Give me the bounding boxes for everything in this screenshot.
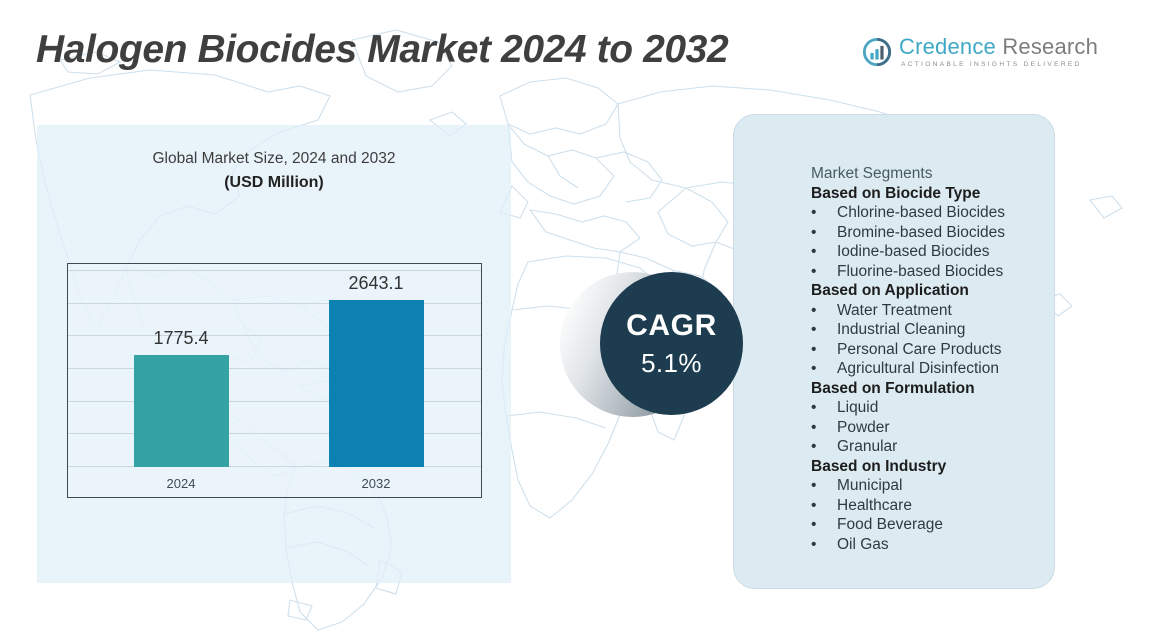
cagr-label: CAGR xyxy=(626,311,717,341)
segment-list-item: •Municipal xyxy=(811,476,1061,496)
bullet-icon: • xyxy=(811,223,837,243)
segment-list-item: •Water Treatment xyxy=(811,301,1061,321)
segment-item-label: Iodine-based Biocides xyxy=(837,242,990,262)
bullet-icon: • xyxy=(811,437,837,457)
segment-item-label: Granular xyxy=(837,437,897,457)
segment-group-title: Based on Biocide Type xyxy=(811,184,1061,204)
market-segments-heading: Market Segments xyxy=(811,164,1061,184)
segment-group-title: Based on Industry xyxy=(811,457,1061,477)
segment-list-item: •Powder xyxy=(811,418,1061,438)
segment-item-label: Municipal xyxy=(837,476,902,496)
segment-list-item: •Chlorine-based Biocides xyxy=(811,203,1061,223)
logo-tagline: Actionable Insights Delivered xyxy=(901,61,1098,68)
bullet-icon: • xyxy=(811,398,837,418)
bullet-icon: • xyxy=(811,262,837,282)
page-title: Halogen Biocides Market 2024 to 2032 xyxy=(36,28,728,72)
segment-item-label: Liquid xyxy=(837,398,878,418)
segment-item-label: Water Treatment xyxy=(837,301,952,321)
bullet-icon: • xyxy=(811,340,837,360)
segment-item-label: Healthcare xyxy=(837,496,912,516)
bar-2032 xyxy=(329,300,424,467)
segment-list-item: •Healthcare xyxy=(811,496,1061,516)
bullet-icon: • xyxy=(811,320,837,340)
bar-value-label: 2643.1 xyxy=(306,273,446,294)
segment-list-item: •Liquid xyxy=(811,398,1061,418)
segment-item-label: Industrial Cleaning xyxy=(837,320,965,340)
segment-item-label: Bromine-based Biocides xyxy=(837,223,1005,243)
cagr-value: 5.1% xyxy=(641,350,702,376)
segment-list-item: •Agricultural Disinfection xyxy=(811,359,1061,379)
bar-2024 xyxy=(134,355,229,467)
segment-list-item: •Food Beverage xyxy=(811,515,1061,535)
bullet-icon: • xyxy=(811,242,837,262)
chart-caption-units: (USD Million) xyxy=(37,174,511,192)
segment-item-label: Oil Gas xyxy=(837,535,889,555)
segment-item-label: Fluorine-based Biocides xyxy=(837,262,1003,282)
market-segments-content: Market Segments Based on Biocide Type•Ch… xyxy=(811,164,1061,554)
cagr-badge: CAGR 5.1% xyxy=(560,272,750,417)
bullet-icon: • xyxy=(811,418,837,438)
cagr-circle: CAGR 5.1% xyxy=(600,272,743,415)
segment-list-item: •Personal Care Products xyxy=(811,340,1061,360)
bar-chart-circle-icon xyxy=(862,37,892,67)
chart-caption-primary: Global Market Size, 2024 and 2032 xyxy=(37,150,511,168)
bar-category-label: 2032 xyxy=(326,476,426,491)
grid-line xyxy=(68,270,481,271)
logo-brand-primary: Credence xyxy=(899,34,996,59)
bullet-icon: • xyxy=(811,496,837,516)
segment-item-label: Food Beverage xyxy=(837,515,943,535)
bullet-icon: • xyxy=(811,535,837,555)
bullet-icon: • xyxy=(811,301,837,321)
segment-group-title: Based on Formulation xyxy=(811,379,1061,399)
logo-brand-secondary: Research xyxy=(1002,34,1098,59)
segment-list-item: •Fluorine-based Biocides xyxy=(811,262,1061,282)
bar-category-label: 2024 xyxy=(131,476,231,491)
bullet-icon: • xyxy=(811,476,837,496)
segment-list-item: •Granular xyxy=(811,437,1061,457)
bar-value-label: 1775.4 xyxy=(111,328,251,349)
segment-list-item: •Oil Gas xyxy=(811,535,1061,555)
segment-list-item: •Industrial Cleaning xyxy=(811,320,1061,340)
segment-item-label: Personal Care Products xyxy=(837,340,1002,360)
segment-item-label: Agricultural Disinfection xyxy=(837,359,999,379)
brand-logo[interactable]: Credence Research Actionable Insights De… xyxy=(862,36,1098,68)
segment-item-label: Powder xyxy=(837,418,890,438)
segment-list-item: •Bromine-based Biocides xyxy=(811,223,1061,243)
bullet-icon: • xyxy=(811,515,837,535)
bullet-icon: • xyxy=(811,359,837,379)
segment-list-item: •Iodine-based Biocides xyxy=(811,242,1061,262)
segment-group-title: Based on Application xyxy=(811,281,1061,301)
bullet-icon: • xyxy=(811,203,837,223)
segment-item-label: Chlorine-based Biocides xyxy=(837,203,1005,223)
market-size-bar-chart: 1775.420242643.12032 xyxy=(67,263,482,498)
